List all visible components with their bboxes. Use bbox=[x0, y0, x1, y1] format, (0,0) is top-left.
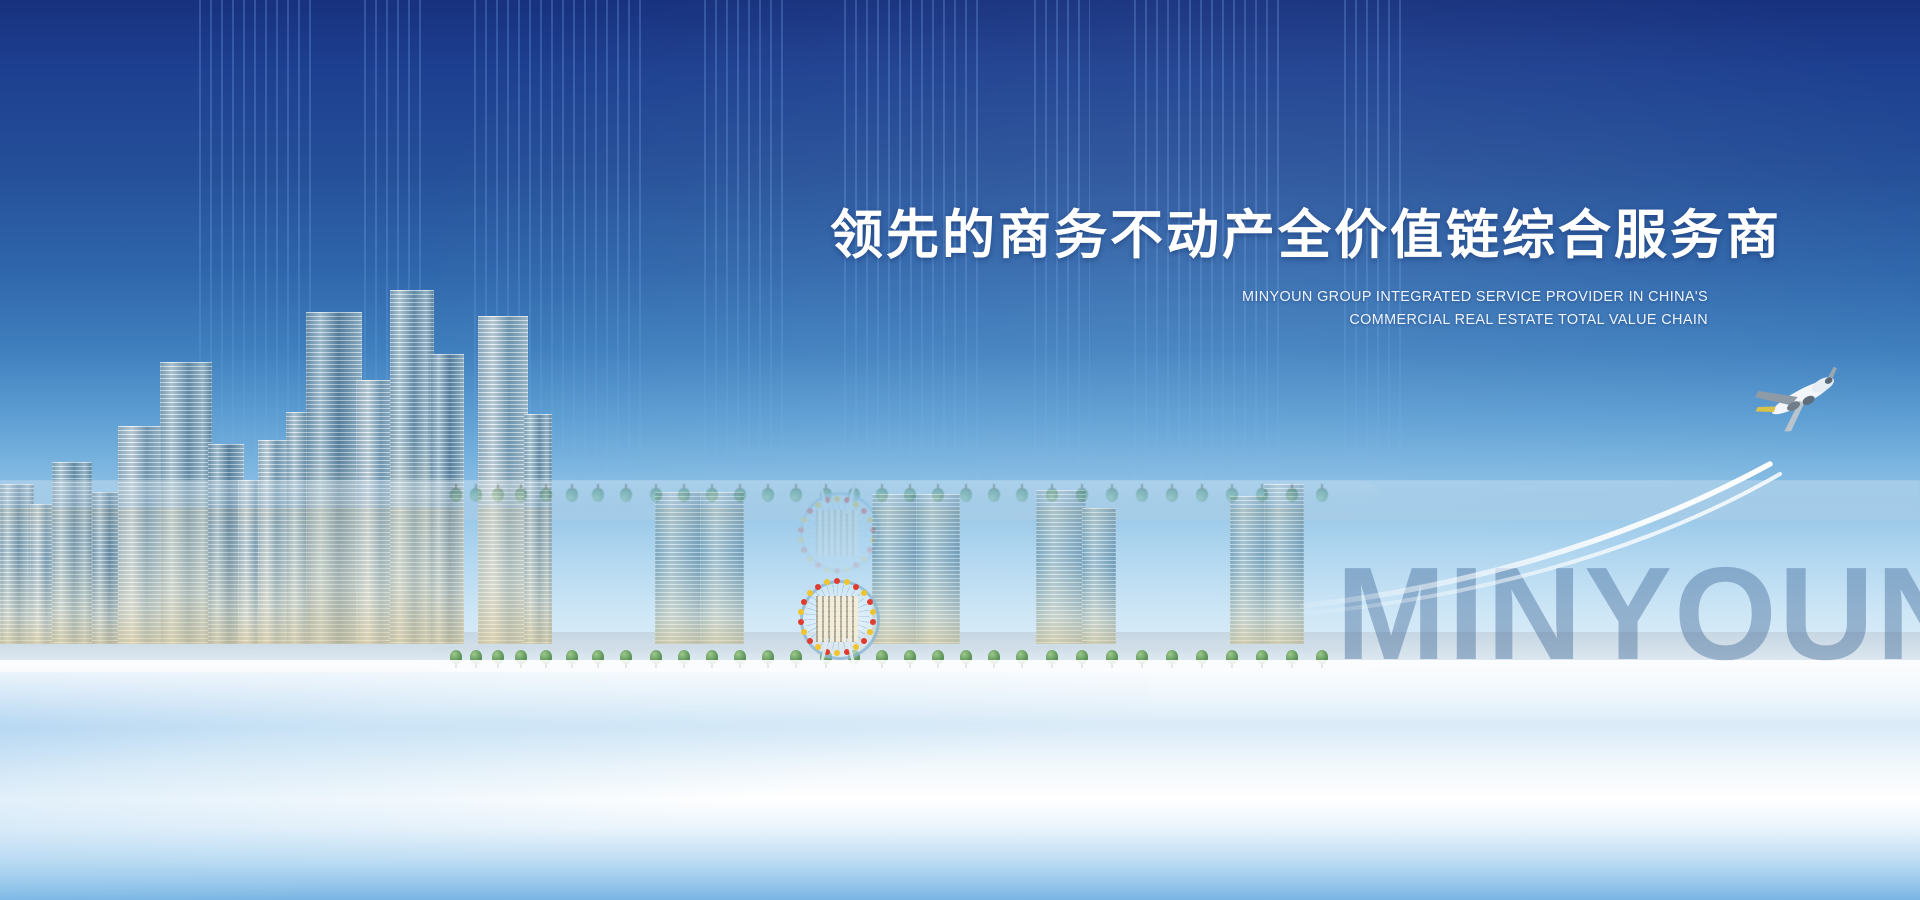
tree bbox=[988, 488, 1000, 502]
page-title: 领先的商务不动产全价值链综合服务商 bbox=[830, 208, 1782, 264]
building-sunlight bbox=[1264, 508, 1304, 668]
tree bbox=[904, 488, 916, 502]
building bbox=[1230, 508, 1268, 656]
building-sunlight bbox=[1036, 508, 1086, 662]
tree bbox=[1226, 488, 1238, 502]
ferris-wheel-icon bbox=[800, 498, 874, 572]
ferris-wheel-cabin bbox=[815, 502, 821, 508]
ferris-wheel-cabin bbox=[807, 556, 813, 562]
tree bbox=[932, 488, 944, 502]
tree bbox=[1196, 488, 1208, 502]
tree bbox=[1136, 488, 1148, 502]
tree bbox=[540, 488, 552, 502]
building bbox=[0, 508, 34, 668]
hero-banner: MINYOUN bbox=[0, 0, 1920, 900]
subtitle-line-2: COMMERCIAL REAL ESTATE TOTAL VALUE CHAIN bbox=[1124, 309, 1708, 332]
subtitle-line-1: MINYOUN GROUP INTEGRATED SERVICE PROVIDE… bbox=[1124, 286, 1708, 309]
tree bbox=[450, 488, 462, 502]
tree bbox=[734, 488, 746, 502]
ferris-wheel-cabin bbox=[824, 567, 830, 573]
tree bbox=[1016, 488, 1028, 502]
tree bbox=[592, 488, 604, 502]
tree bbox=[1076, 488, 1088, 502]
ferris-wheel-cabin bbox=[861, 556, 867, 562]
tree bbox=[1256, 488, 1268, 502]
building-sunlight bbox=[655, 508, 701, 660]
ferris-wheel-cabin bbox=[867, 517, 873, 523]
ferris-wheel-cabin bbox=[834, 496, 840, 502]
airplane-icon bbox=[1740, 342, 1860, 452]
tree bbox=[876, 488, 888, 502]
tree bbox=[1166, 488, 1178, 502]
tree bbox=[1106, 488, 1118, 502]
tree bbox=[960, 488, 972, 502]
building bbox=[916, 508, 960, 658]
building bbox=[1036, 508, 1086, 662]
ferris-wheel-cabin bbox=[844, 567, 850, 573]
building bbox=[655, 508, 701, 660]
building-sunlight bbox=[700, 508, 744, 660]
ferris-wheel-cabin bbox=[834, 568, 840, 574]
building-sunlight bbox=[1082, 508, 1116, 644]
building-sunlight bbox=[0, 508, 34, 668]
tree bbox=[515, 488, 527, 502]
tree bbox=[762, 488, 774, 502]
ferris-wheel-cabin bbox=[867, 547, 873, 553]
tree bbox=[470, 488, 482, 502]
tree bbox=[678, 488, 690, 502]
tree bbox=[1286, 488, 1298, 502]
tree bbox=[620, 488, 632, 502]
building bbox=[1264, 508, 1304, 668]
tree bbox=[650, 488, 662, 502]
tree bbox=[1046, 488, 1058, 502]
ferris-wheel-cabin bbox=[870, 527, 876, 533]
airplane-group bbox=[1300, 420, 1920, 620]
tree bbox=[566, 488, 578, 502]
building-sunlight bbox=[916, 508, 960, 658]
page-subtitle: MINYOUN GROUP INTEGRATED SERVICE PROVIDE… bbox=[1124, 286, 1708, 331]
building-sunlight bbox=[1230, 508, 1268, 656]
tree bbox=[492, 488, 504, 502]
building bbox=[1082, 508, 1116, 644]
ferris-wheel-cabin bbox=[870, 537, 876, 543]
tree bbox=[706, 488, 718, 502]
ferris-wheel-cabin bbox=[815, 562, 821, 568]
building bbox=[700, 508, 744, 660]
